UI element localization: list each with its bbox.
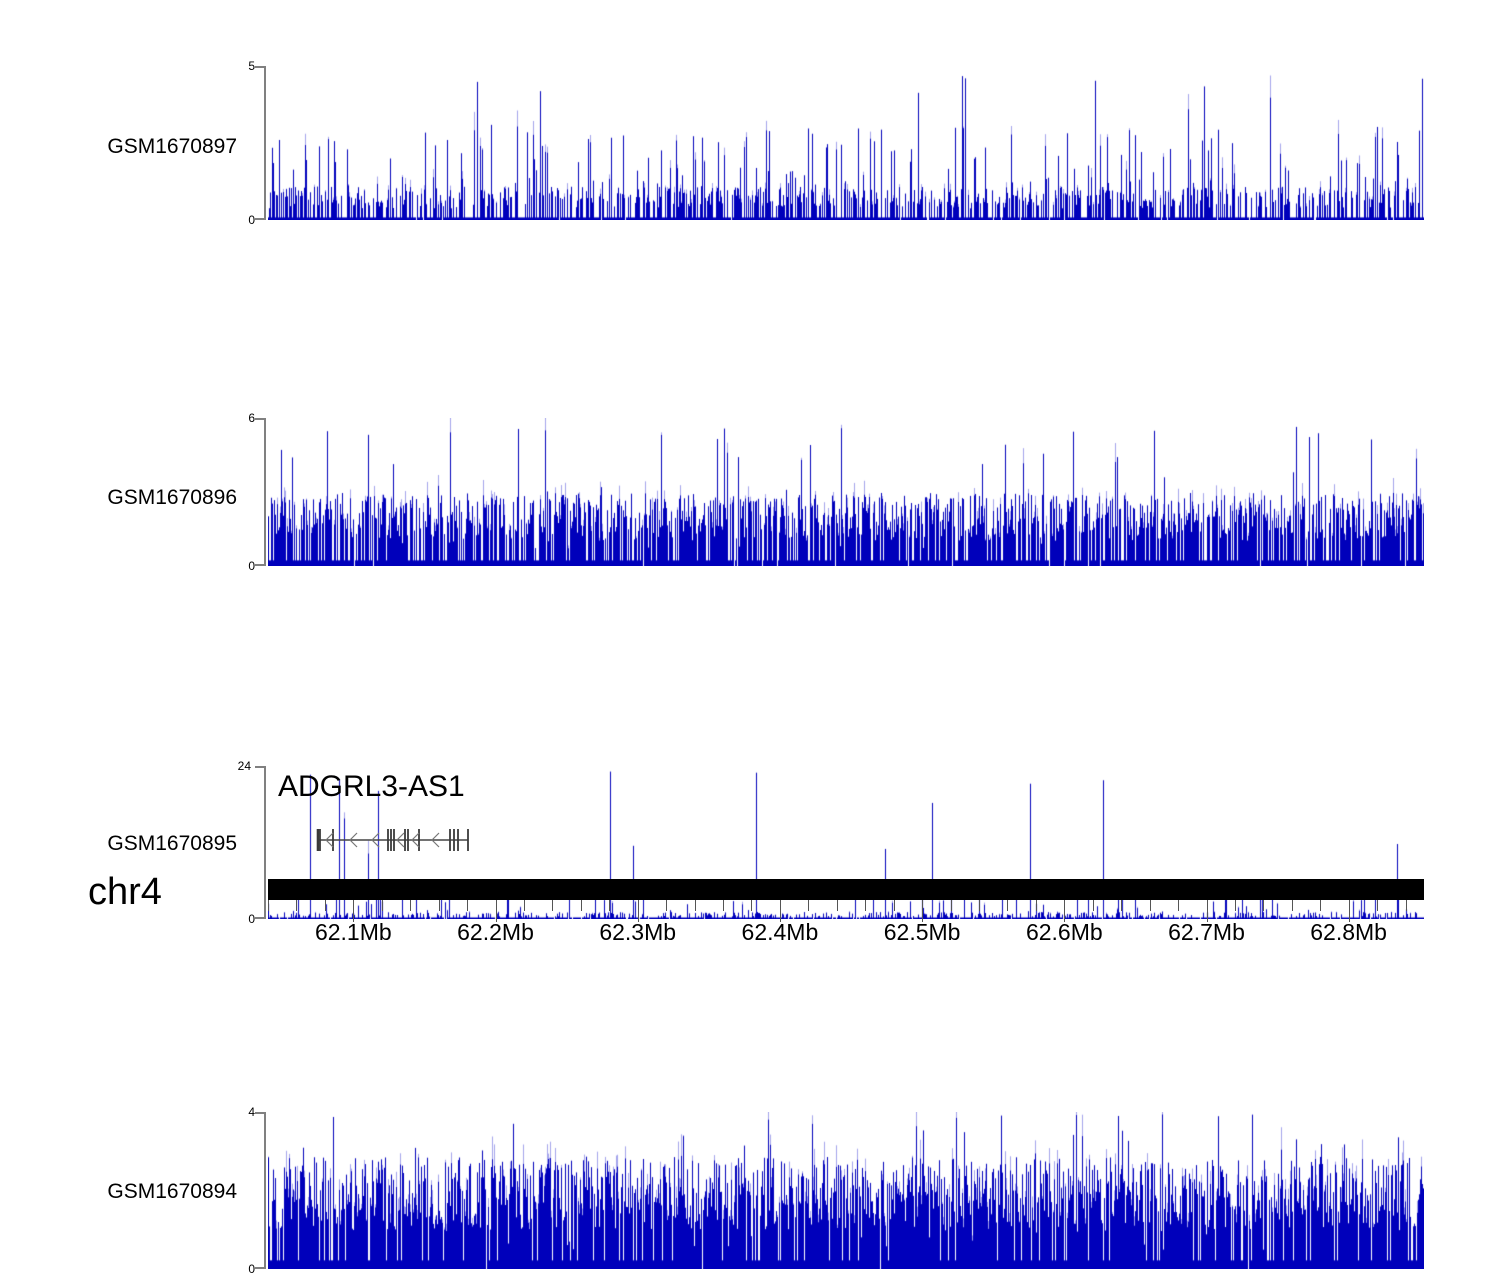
- ruler-minor-tick: [1093, 900, 1094, 911]
- ruler-minor-tick: [609, 900, 610, 911]
- axis-tick-max: [255, 766, 264, 768]
- axis-max-label: 5: [215, 60, 255, 72]
- ruler-minor-tick: [1263, 900, 1264, 911]
- axis-tick-max: [255, 66, 264, 68]
- ruler-minor-tick: [1150, 900, 1151, 911]
- ruler-minor-tick: [894, 900, 895, 911]
- axis-min-label: 0: [215, 913, 255, 925]
- gene-model[interactable]: [300, 822, 500, 858]
- track-gsm1670896[interactable]: GSM1670896 6 0: [0, 206, 1500, 368]
- ruler-tick-label: 62.4Mb: [742, 921, 819, 944]
- ruler-minor-tick: [666, 900, 667, 911]
- ruler-minor-tick: [751, 900, 752, 911]
- ruler-minor-tick: [808, 900, 809, 911]
- ruler-tick-label: 62.2Mb: [457, 921, 534, 944]
- ruler-minor-tick: [1320, 900, 1321, 911]
- axis-vertical-line: [264, 66, 266, 220]
- ruler-minor-tick: [1007, 900, 1008, 911]
- axis-tick-min: [255, 1267, 264, 1269]
- axis-max-label: 24: [211, 760, 251, 772]
- ruler-minor-tick: [1406, 900, 1407, 911]
- ruler-minor-tick: [382, 900, 383, 911]
- ruler-minor-tick: [467, 900, 468, 911]
- axis-max-label: 4: [215, 1106, 255, 1118]
- ruler-minor-tick: [865, 900, 866, 911]
- ruler-minor-tick: [1121, 900, 1122, 911]
- track-label: GSM1670894: [107, 1181, 237, 1202]
- chromosome-label: chr4: [88, 873, 162, 911]
- ruler-minor-tick: [951, 900, 952, 911]
- axis-min-label: 0: [215, 1263, 255, 1275]
- axis-tick-min: [255, 917, 264, 919]
- track-gsm1670894[interactable]: GSM1670894 4 0: [0, 553, 1500, 723]
- ruler-minor-tick: [552, 900, 553, 911]
- ruler-tick-label: 62.7Mb: [1168, 921, 1245, 944]
- ruler-minor-tick: [325, 900, 326, 911]
- axis-vertical-line: [264, 1112, 266, 1269]
- ruler-minor-tick: [581, 900, 582, 911]
- track-label: GSM1670897: [107, 136, 237, 157]
- ruler-minor-tick: [1377, 900, 1378, 911]
- track-plot-area[interactable]: [268, 60, 1424, 220]
- ruler-minor-tick: [695, 900, 696, 911]
- ruler-minor-tick: [296, 900, 297, 911]
- ruler-minor-tick: [1235, 900, 1236, 911]
- genome-browser-view: GSM1670897 5 0 GSM1670896 6 0 GSM1670895…: [0, 0, 1500, 980]
- ruler-minor-tick: [1292, 900, 1293, 911]
- ruler-minor-tick: [1178, 900, 1179, 911]
- gene-name-label[interactable]: ADGRL3-AS1: [278, 772, 465, 802]
- ruler-tick-label: 62.3Mb: [599, 921, 676, 944]
- ruler-minor-tick: [1036, 900, 1037, 911]
- ruler-minor-tick: [524, 900, 525, 911]
- axis-vertical-line: [264, 766, 266, 919]
- ruler-minor-tick: [979, 900, 980, 911]
- track-gsm1670895[interactable]: GSM1670895 24 0: [0, 380, 1500, 546]
- ruler-tick-label: 62.5Mb: [884, 921, 961, 944]
- chromosome-ideogram[interactable]: [268, 879, 1424, 900]
- ruler-tick-label: 62.8Mb: [1310, 921, 1387, 944]
- ruler-minor-tick: [268, 900, 269, 911]
- track-label: GSM1670895: [107, 833, 237, 854]
- ruler-minor-tick: [439, 900, 440, 911]
- ruler-tick-label: 62.1Mb: [315, 921, 392, 944]
- ruler-minor-tick: [723, 900, 724, 911]
- ruler-tick-label: 62.6Mb: [1026, 921, 1103, 944]
- ruler-minor-tick: [410, 900, 411, 911]
- gene-model-svg[interactable]: [300, 822, 500, 858]
- track-plot-area[interactable]: [268, 1112, 1424, 1269]
- axis-tick-max: [255, 1112, 264, 1114]
- track-gsm1670897[interactable]: GSM1670897 5 0: [0, 30, 1500, 192]
- ruler-minor-tick: [837, 900, 838, 911]
